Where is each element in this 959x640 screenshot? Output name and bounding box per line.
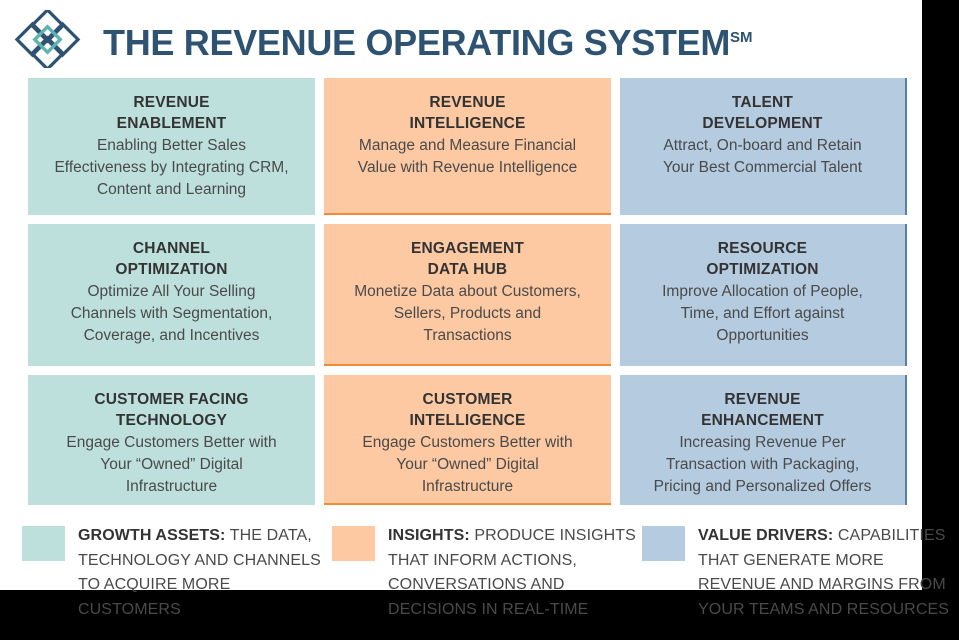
card-body: Monetize Data about Customers, Sellers, … xyxy=(334,281,601,347)
legend-swatch-growth-assets xyxy=(22,526,65,561)
card-heading: REVENUE ENABLEMENT xyxy=(38,92,305,134)
card-customer-facing-technology[interactable]: CUSTOMER FACING TECHNOLOGY Engage Custom… xyxy=(28,375,315,505)
capability-grid: REVENUE ENABLEMENT Enabling Better Sales… xyxy=(28,78,908,514)
card-heading: CHANNEL OPTIMIZATION xyxy=(38,238,305,280)
card-heading: REVENUE ENHANCEMENT xyxy=(630,389,895,431)
page-title: THE REVENUE OPERATING SYSTEMSM xyxy=(103,14,753,67)
grid-row-2: CHANNEL OPTIMIZATION Optimize All Your S… xyxy=(28,224,908,366)
card-heading: CUSTOMER INTELLIGENCE xyxy=(334,389,601,431)
card-body: Engage Customers Better with Your “Owned… xyxy=(38,432,305,498)
legend-swatch-insights xyxy=(332,526,375,561)
legend-item-value-drivers: VALUE DRIVERS: CAPABILITIES THAT GENERAT… xyxy=(642,524,952,622)
card-heading: ENGAGEMENT DATA HUB xyxy=(334,238,601,280)
legend-swatch-value-drivers xyxy=(642,526,685,561)
card-resource-optimization[interactable]: RESOURCE OPTIMIZATION Improve Allocation… xyxy=(620,224,907,366)
legend: GROWTH ASSETS: THE DATA, TECHNOLOGY AND … xyxy=(22,524,952,622)
card-revenue-enablement[interactable]: REVENUE ENABLEMENT Enabling Better Sales… xyxy=(28,78,315,215)
legend-text-insights: INSIGHTS: PRODUCE INSIGHTS THAT INFORM A… xyxy=(388,524,642,622)
legend-term: VALUE DRIVERS: xyxy=(698,527,833,544)
card-body: Engage Customers Better with Your “Owned… xyxy=(334,432,601,498)
card-talent-development[interactable]: TALENT DEVELOPMENT Attract, On-board and… xyxy=(620,78,907,215)
legend-item-growth-assets: GROWTH ASSETS: THE DATA, TECHNOLOGY AND … xyxy=(22,524,332,622)
header: THE REVENUE OPERATING SYSTEMSM xyxy=(0,0,922,72)
card-body: Increasing Revenue Per Transaction with … xyxy=(630,432,895,498)
card-channel-optimization[interactable]: CHANNEL OPTIMIZATION Optimize All Your S… xyxy=(28,224,315,366)
card-body: Optimize All Your Selling Channels with … xyxy=(38,281,305,347)
legend-term: GROWTH ASSETS: xyxy=(78,527,225,544)
legend-term: INSIGHTS: xyxy=(388,527,470,544)
card-engagement-data-hub[interactable]: ENGAGEMENT DATA HUB Monetize Data about … xyxy=(324,224,611,366)
card-revenue-enhancement[interactable]: REVENUE ENHANCEMENT Increasing Revenue P… xyxy=(620,375,907,505)
card-body: Improve Allocation of People, Time, and … xyxy=(630,281,895,347)
card-heading: TALENT DEVELOPMENT xyxy=(630,92,895,134)
card-customer-intelligence[interactable]: CUSTOMER INTELLIGENCE Engage Customers B… xyxy=(324,375,611,505)
legend-text-growth-assets: GROWTH ASSETS: THE DATA, TECHNOLOGY AND … xyxy=(78,524,332,622)
card-body: Enabling Better Sales Effectiveness by I… xyxy=(38,135,305,201)
legend-item-insights: INSIGHTS: PRODUCE INSIGHTS THAT INFORM A… xyxy=(332,524,642,622)
card-body: Attract, On-board and Retain Your Best C… xyxy=(630,135,895,179)
page-title-text: THE REVENUE OPERATING SYSTEM xyxy=(103,22,730,63)
card-heading: RESOURCE OPTIMIZATION xyxy=(630,238,895,280)
card-heading: CUSTOMER FACING TECHNOLOGY xyxy=(38,389,305,431)
card-revenue-intelligence[interactable]: REVENUE INTELLIGENCE Manage and Measure … xyxy=(324,78,611,215)
grid-row-1: REVENUE ENABLEMENT Enabling Better Sales… xyxy=(28,78,908,215)
card-body: Manage and Measure Financial Value with … xyxy=(334,135,601,179)
diamond-lattice-logo xyxy=(14,10,82,68)
card-heading: REVENUE INTELLIGENCE xyxy=(334,92,601,134)
legend-text-value-drivers: VALUE DRIVERS: CAPABILITIES THAT GENERAT… xyxy=(698,524,952,622)
grid-row-3: CUSTOMER FACING TECHNOLOGY Engage Custom… xyxy=(28,375,908,505)
service-mark: SM xyxy=(730,29,753,46)
infographic-root: THE REVENUE OPERATING SYSTEMSM REVENUE E… xyxy=(0,0,959,640)
